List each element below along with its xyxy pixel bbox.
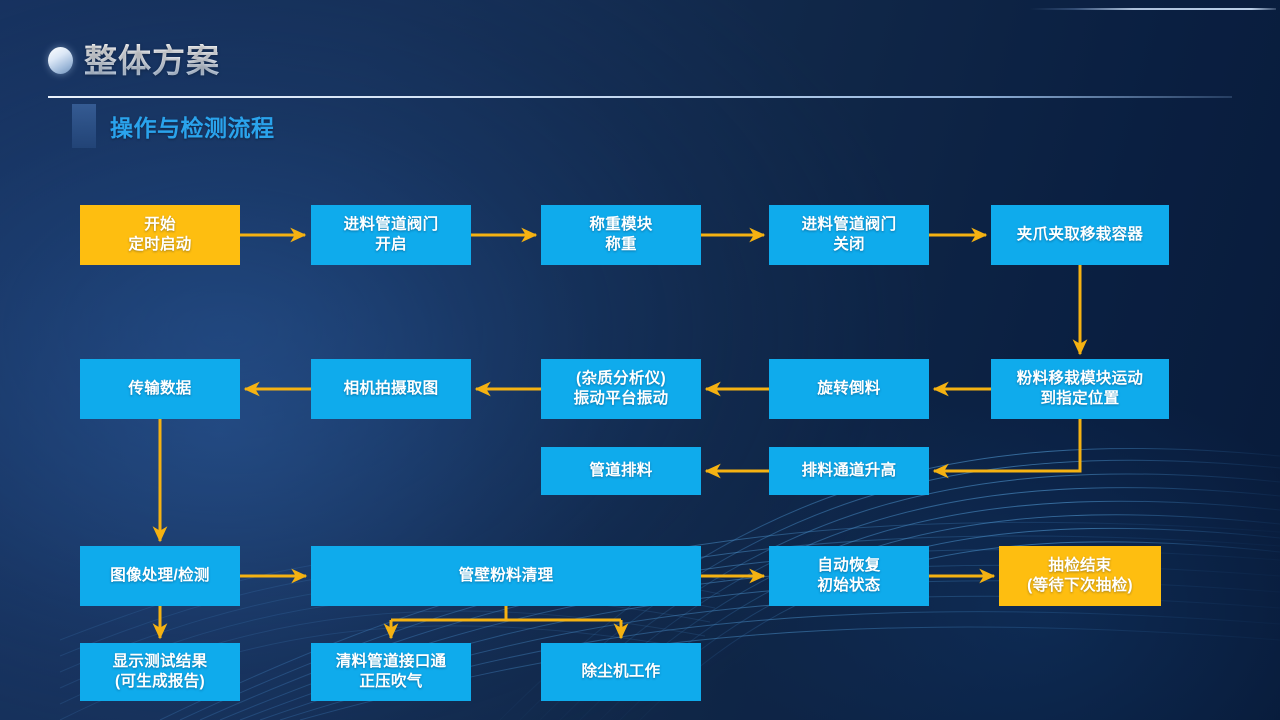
flowchart: 开始 定时启动进料管道阀门 开启称重模块 称重进料管道阀门 关闭夹爪夹取移栽容器…	[0, 0, 1280, 720]
flow-node-label: 抽检结束 (等待下次抽检)	[1027, 556, 1133, 595]
flow-node-label: 自动恢复 初始状态	[817, 556, 880, 595]
flow-node-label: 称重模块 称重	[589, 215, 652, 254]
flow-node-n17[interactable]: 显示测试结果 (可生成报告)	[80, 643, 240, 701]
flow-node-n15[interactable]: 自动恢复 初始状态	[769, 546, 929, 606]
flow-node-label: 排料通道升高	[802, 461, 897, 481]
flow-node-label: 图像处理/检测	[110, 566, 209, 586]
flow-node-n10[interactable]: 传输数据	[80, 359, 240, 419]
flow-node-n13[interactable]: 图像处理/检测	[80, 546, 240, 606]
flow-node-n5[interactable]: 夹爪夹取移栽容器	[991, 205, 1169, 265]
flow-node-label: 传输数据	[128, 379, 191, 399]
flow-node-n19[interactable]: 除尘机工作	[541, 643, 701, 701]
flow-node-label: (杂质分析仪) 振动平台振动	[574, 369, 669, 408]
flow-node-n6[interactable]: 粉料移栽模块运动 到指定位置	[991, 359, 1169, 419]
flow-node-label: 进料管道阀门 关闭	[802, 215, 897, 254]
flow-node-n18[interactable]: 清料管道接口通 正压吹气	[311, 643, 471, 701]
flow-node-label: 夹爪夹取移栽容器	[1017, 225, 1143, 245]
flow-node-label: 管道排料	[589, 461, 652, 481]
flow-node-label: 进料管道阀门 开启	[344, 215, 439, 254]
flow-node-n2[interactable]: 进料管道阀门 开启	[311, 205, 471, 265]
flow-node-label: 清料管道接口通 正压吹气	[336, 652, 447, 691]
flow-node-label: 相机拍摄取图	[344, 379, 439, 399]
flow-node-label: 旋转倒料	[817, 379, 880, 399]
flow-node-n3[interactable]: 称重模块 称重	[541, 205, 701, 265]
flow-node-n14[interactable]: 管壁粉料清理	[311, 546, 701, 606]
flow-node-n1[interactable]: 开始 定时启动	[80, 205, 240, 265]
flow-node-label: 管壁粉料清理	[459, 566, 554, 586]
flow-node-n9[interactable]: 相机拍摄取图	[311, 359, 471, 419]
flow-node-n11[interactable]: 排料通道升高	[769, 447, 929, 495]
flow-node-n4[interactable]: 进料管道阀门 关闭	[769, 205, 929, 265]
flow-node-n16[interactable]: 抽检结束 (等待下次抽检)	[999, 546, 1161, 606]
flow-node-n7[interactable]: 旋转倒料	[769, 359, 929, 419]
flow-node-n8[interactable]: (杂质分析仪) 振动平台振动	[541, 359, 701, 419]
flow-node-label: 显示测试结果 (可生成报告)	[113, 652, 208, 691]
flow-node-n12[interactable]: 管道排料	[541, 447, 701, 495]
flow-node-label: 除尘机工作	[581, 662, 660, 682]
flow-node-label: 开始 定时启动	[128, 215, 191, 254]
flow-node-label: 粉料移栽模块运动 到指定位置	[1017, 369, 1143, 408]
